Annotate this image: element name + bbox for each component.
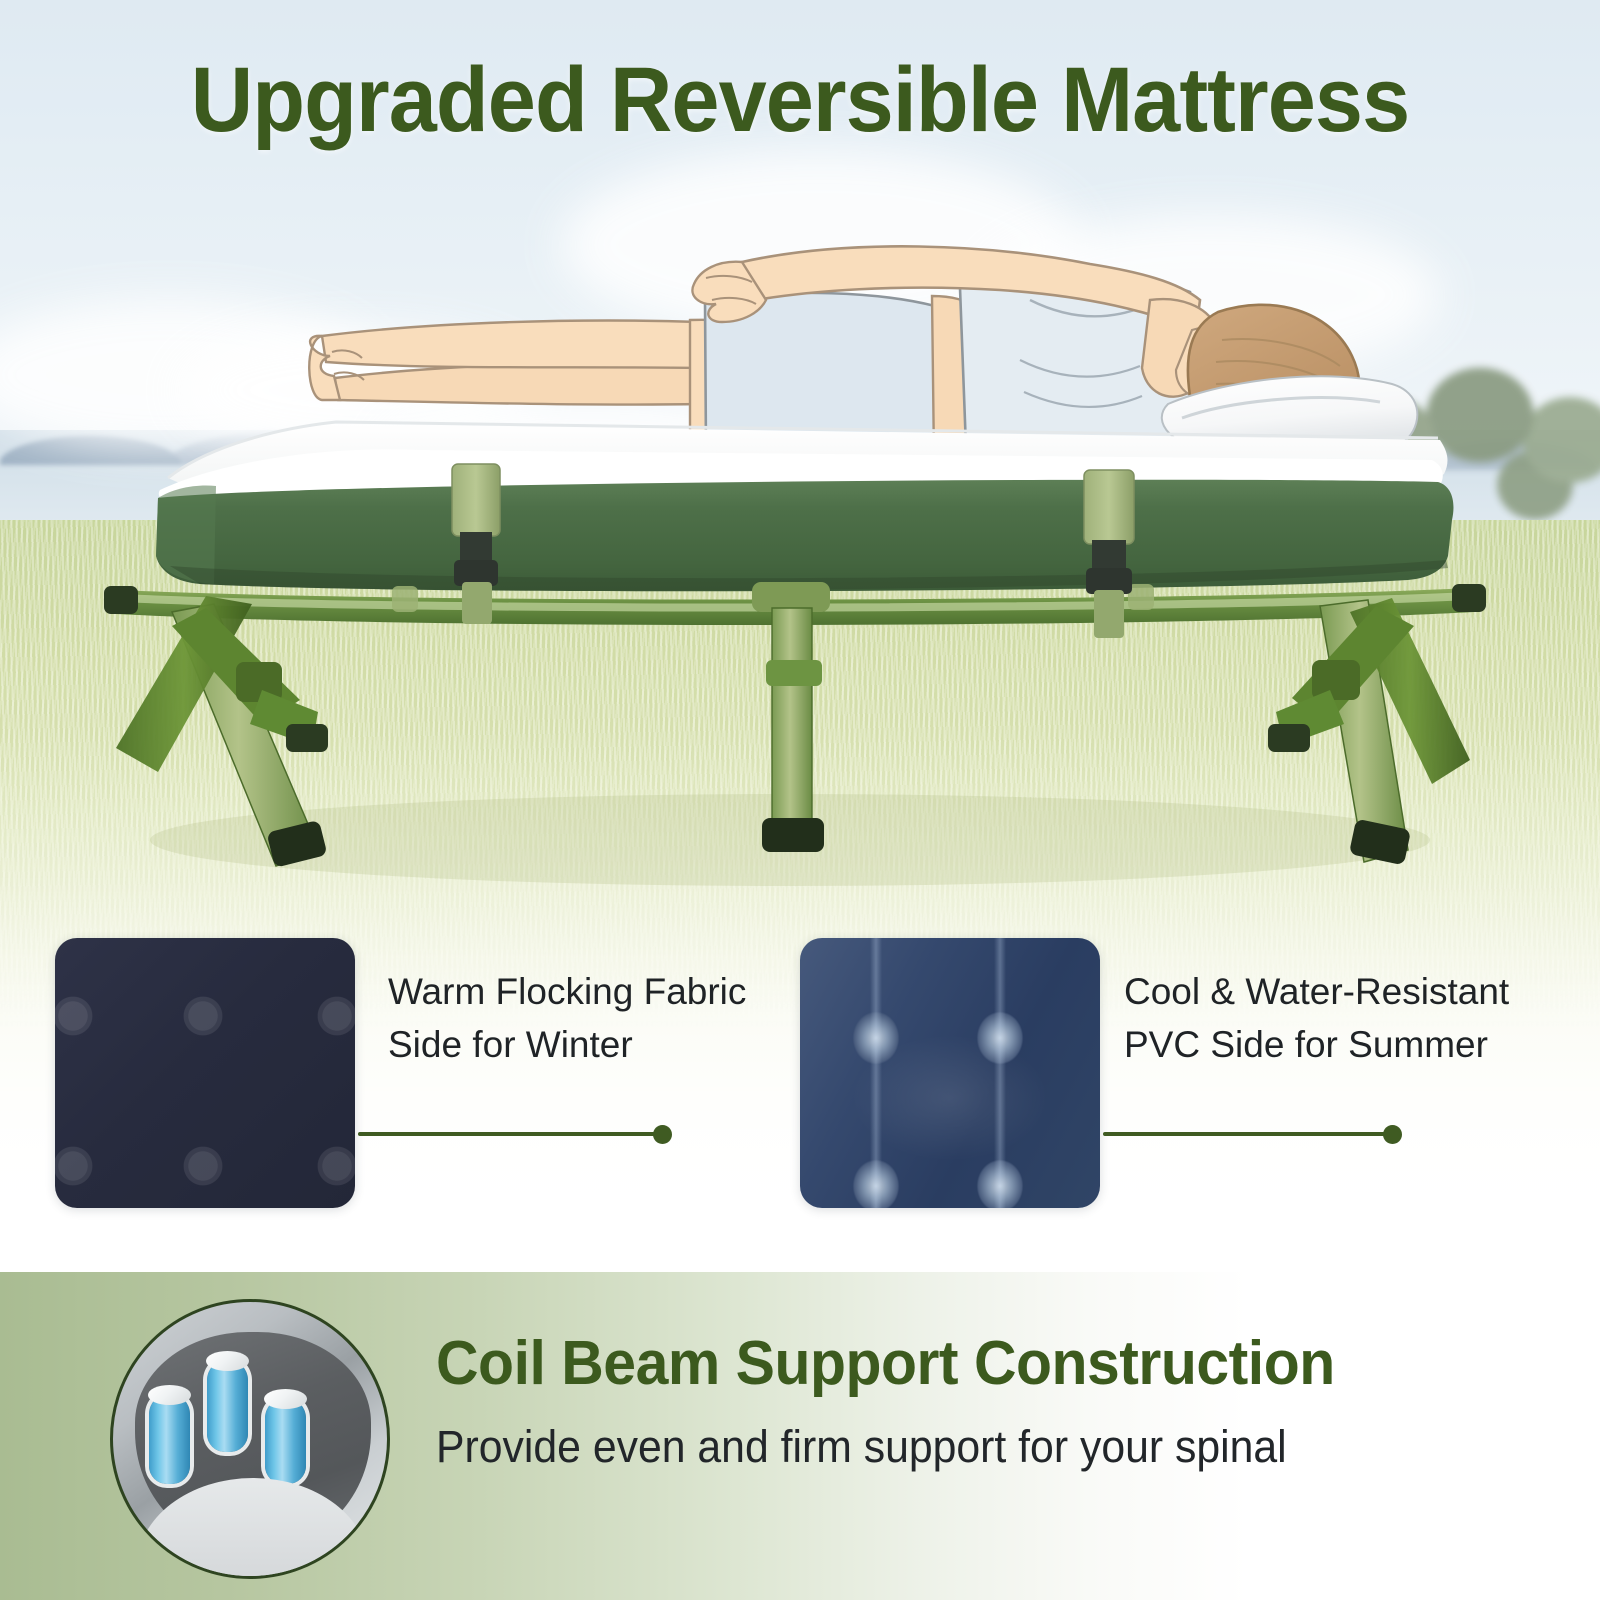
- feature-label-summer-line1: Cool & Water-Resistant: [1124, 966, 1544, 1019]
- coil-support-title: Coil Beam Support Construction: [436, 1328, 1481, 1399]
- coil-beam-icon: [110, 1299, 390, 1579]
- flocking-fabric-swatch: [55, 938, 355, 1208]
- connector-line-winter: [358, 1132, 658, 1136]
- coil-2-cap: [206, 1351, 249, 1371]
- feature-label-winter: Warm Flocking Fabric Side for Winter: [388, 966, 788, 1071]
- connector-line-summer: [1103, 1132, 1388, 1136]
- mattress: [156, 422, 1453, 591]
- connector-dot-summer: [1383, 1125, 1402, 1144]
- reversible-sides-section: Warm Flocking Fabric Side for Winter Coo…: [0, 938, 1600, 1218]
- pvc-swatch: [800, 938, 1100, 1208]
- coil-support-section: Coil Beam Support Construction Provide e…: [0, 1272, 1600, 1600]
- coil-3: [265, 1398, 306, 1484]
- coil-3-cap: [264, 1389, 307, 1409]
- feature-label-winter-line1: Warm Flocking Fabric: [388, 966, 788, 1019]
- coil-1-cap: [148, 1385, 191, 1405]
- coil-support-text: Coil Beam Support Construction Provide e…: [436, 1328, 1536, 1473]
- feature-label-summer-line2: PVC Side for Summer: [1124, 1019, 1544, 1072]
- page-title: Upgraded Reversible Mattress: [48, 48, 1552, 153]
- feature-label-winter-line2: Side for Winter: [388, 1019, 788, 1072]
- coil-1: [149, 1394, 190, 1484]
- coil-2: [207, 1360, 248, 1452]
- connector-dot-winter: [653, 1125, 672, 1144]
- feature-label-summer: Cool & Water-Resistant PVC Side for Summ…: [1124, 966, 1544, 1071]
- coil-support-subtitle: Provide even and firm support for your s…: [436, 1421, 1481, 1473]
